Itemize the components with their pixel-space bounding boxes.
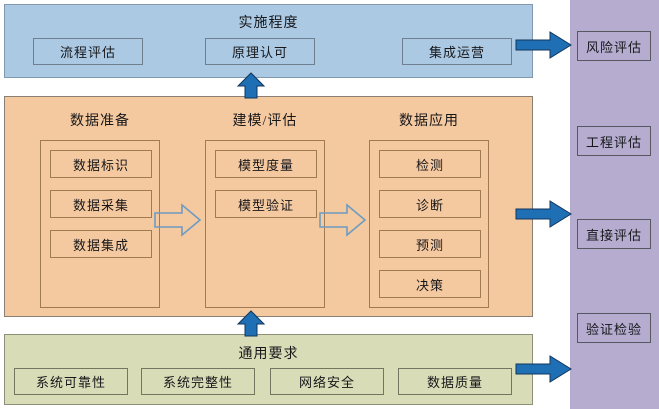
lifecycle-box-detection[interactable]: 检测 (379, 150, 481, 178)
flow-arrow-icon-modeling-to-application (320, 203, 366, 237)
implementation-box-integrated-operation[interactable]: 集成运营 (402, 38, 512, 65)
assessment-box-direct-assessment[interactable]: 直接评估 (577, 219, 651, 249)
panel-lifecycle: 数据准备 建模/评估 数据应用 数据标识 数据采集 数据集成 模型度量 模型验证… (4, 96, 533, 317)
diagram-canvas: 实施程度 流程评估 原理认可 集成运营 数据准备 建模/评估 数据应用 数据标识… (0, 0, 659, 409)
requirements-box-network-security[interactable]: 网络安全 (270, 368, 384, 395)
requirements-box-system-integrity[interactable]: 系统完整性 (141, 368, 255, 395)
assessment-box-engineering-assessment[interactable]: 工程评估 (577, 126, 651, 156)
panel-implementation-title: 实施程度 (5, 12, 532, 32)
up-arrow-icon-requirements-to-lifecycle (237, 311, 265, 337)
lifecycle-box-data-identification[interactable]: 数据标识 (50, 150, 152, 178)
panel-requirements: 通用要求 系统可靠性 系统完整性 网络安全 数据质量 (4, 334, 533, 405)
right-arrow-icon-lifecycle-to-assessment (516, 200, 572, 228)
panel-requirements-title: 通用要求 (5, 343, 532, 363)
lifecycle-box-model-validation[interactable]: 模型验证 (215, 190, 317, 218)
implementation-box-process-assessment[interactable]: 流程评估 (33, 38, 143, 65)
up-arrow-icon-lifecycle-to-implementation (237, 73, 265, 99)
lifecycle-box-decision[interactable]: 决策 (379, 270, 481, 298)
lifecycle-box-data-integration[interactable]: 数据集成 (50, 230, 152, 258)
requirements-box-data-quality[interactable]: 数据质量 (398, 368, 512, 395)
lifecycle-box-prediction[interactable]: 预测 (379, 230, 481, 258)
lifecycle-column-data-preparation: 数据标识 数据采集 数据集成 (40, 140, 160, 308)
lifecycle-column-title-data-preparation: 数据准备 (40, 110, 160, 130)
lifecycle-box-model-metrics[interactable]: 模型度量 (215, 150, 317, 178)
requirements-box-system-reliability[interactable]: 系统可靠性 (14, 368, 128, 395)
implementation-box-principle-approval[interactable]: 原理认可 (205, 38, 315, 65)
right-arrow-icon-implementation-to-assessment (516, 31, 572, 59)
lifecycle-column-data-application: 检测 诊断 预测 决策 (369, 140, 489, 308)
assessment-box-verification-inspection[interactable]: 验证检验 (577, 313, 651, 343)
lifecycle-column-modeling-evaluation: 模型度量 模型验证 (205, 140, 325, 308)
flow-arrow-icon-preparation-to-modeling (155, 203, 201, 237)
assessment-box-risk-assessment[interactable]: 风险评估 (577, 31, 651, 61)
lifecycle-box-diagnosis[interactable]: 诊断 (379, 190, 481, 218)
right-arrow-icon-requirements-to-assessment (516, 355, 572, 383)
panel-implementation: 实施程度 流程评估 原理认可 集成运营 (4, 4, 533, 78)
lifecycle-column-title-data-application: 数据应用 (369, 110, 489, 130)
lifecycle-box-data-collection[interactable]: 数据采集 (50, 190, 152, 218)
panel-assessment: 风险评估 工程评估 直接评估 验证检验 (570, 0, 659, 409)
lifecycle-column-title-modeling-evaluation: 建模/评估 (205, 110, 325, 130)
